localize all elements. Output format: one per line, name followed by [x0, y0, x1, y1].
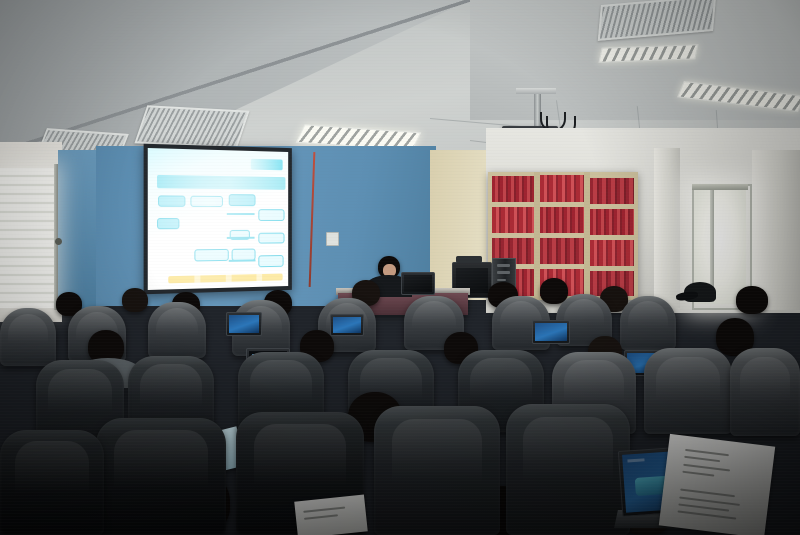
attendee-head [122, 288, 148, 312]
slide-connector [227, 237, 255, 239]
slide-box-6 [259, 232, 285, 244]
hvac-vent-center [134, 105, 249, 148]
window-right-header [692, 184, 748, 190]
seat [730, 348, 800, 436]
books-row [492, 207, 534, 233]
slide-box-1 [158, 195, 185, 207]
wall-blue-left-return [58, 150, 98, 310]
slide-box-3 [228, 194, 255, 206]
seat [96, 418, 226, 535]
seat [506, 404, 630, 535]
wall-outlet [326, 232, 339, 246]
wall-column-right [752, 150, 800, 310]
window-left-handle [55, 238, 62, 245]
slide-box-2 [190, 195, 223, 207]
books-row [590, 209, 634, 235]
window-left-blind [0, 168, 56, 308]
attendee-head [736, 286, 768, 314]
slide-logo [251, 159, 283, 171]
laptop-blue-screen-right [532, 320, 570, 344]
slide-box-4 [157, 218, 180, 230]
books-row [540, 207, 584, 233]
slide-footer-bar [168, 273, 282, 283]
slide-box-5 [259, 209, 285, 220]
monitor-top-device [456, 256, 482, 263]
books-row [590, 178, 634, 204]
seat [644, 348, 732, 434]
projected-slide [148, 148, 288, 290]
seat [0, 308, 56, 366]
presenter-laptop [401, 272, 435, 295]
slide-header-bar [157, 175, 286, 189]
seat [0, 430, 104, 535]
printed-handout [659, 434, 775, 535]
wall-column [654, 148, 680, 308]
slide-box-7 [259, 255, 284, 267]
projector-ceiling-plate [516, 88, 556, 94]
window-left-frame [54, 164, 58, 310]
slide-connector [227, 213, 255, 215]
printed-handout-center [294, 494, 367, 535]
lecture-hall-photo [0, 0, 800, 535]
slide-connector [228, 260, 256, 262]
seat [620, 296, 676, 350]
books-row [540, 175, 584, 202]
seat [148, 302, 206, 358]
books-row [590, 240, 634, 266]
books-row [492, 176, 534, 202]
projection-screen [148, 148, 288, 290]
laptop-blue-screen-left [226, 312, 262, 336]
books-row [540, 238, 584, 264]
laptop-screen-far [330, 314, 364, 336]
slide-box-8 [194, 249, 228, 261]
seat [374, 406, 500, 535]
